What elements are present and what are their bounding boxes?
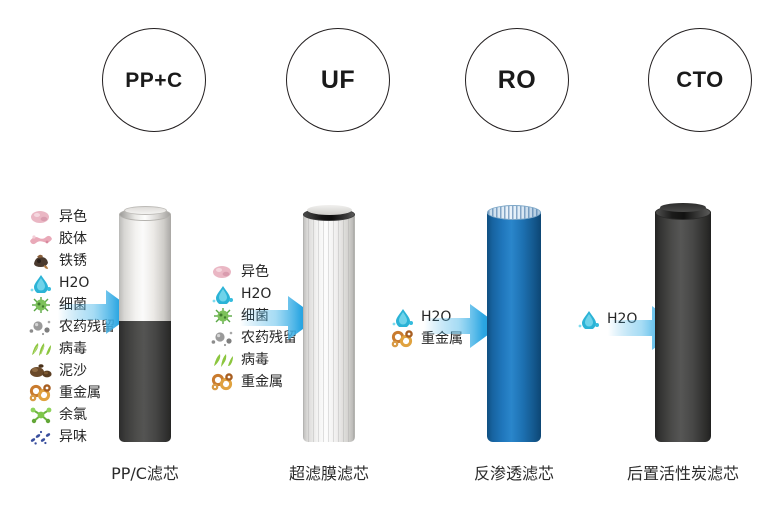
stage-badge-label: CTO xyxy=(676,69,724,91)
water-drop-icon xyxy=(210,284,236,304)
list-item-label: 泥沙 xyxy=(59,361,87,381)
cartridge-caption-ppc: PP/C滤芯 xyxy=(85,460,205,484)
stage-badge-label: UF xyxy=(321,68,355,93)
sediment-icon xyxy=(28,361,54,381)
pesticide-residue-icon xyxy=(28,317,54,337)
cartridge-top-rim xyxy=(303,208,355,221)
water-drop-icon xyxy=(390,307,416,327)
filter-cartridge-uf[interactable] xyxy=(303,214,355,442)
cartridge-top-rim xyxy=(119,208,171,221)
stage-badge-label: RO xyxy=(498,68,537,93)
cartridge-opening xyxy=(660,203,705,212)
residual-chlorine-icon xyxy=(28,405,54,425)
water-drop-icon xyxy=(28,273,54,293)
discoloration-icon xyxy=(210,262,236,282)
list-item-label: 异色 xyxy=(241,262,269,282)
list-item-label: 重金属 xyxy=(59,383,101,403)
odor-icon xyxy=(28,427,54,447)
stage-badge-cto[interactable]: CTO xyxy=(648,28,752,132)
list-item-label: 重金属 xyxy=(241,372,283,392)
cartridge-lower-section xyxy=(119,321,171,442)
discoloration-icon xyxy=(28,207,54,227)
list-item: 铁锈 xyxy=(28,250,115,272)
filter-cartridge-ro[interactable] xyxy=(487,212,541,442)
cartridge-top-rim xyxy=(487,205,541,220)
stage-badge-ro[interactable]: RO xyxy=(465,28,569,132)
list-item: 重金属 xyxy=(28,382,115,404)
cartridge-body xyxy=(655,212,711,442)
bacteria-icon xyxy=(210,306,236,326)
list-item: 异色 xyxy=(210,261,297,283)
cartridge-top-rim xyxy=(655,205,711,220)
cartridge-opening xyxy=(124,206,167,215)
stage-badge-uf[interactable]: UF xyxy=(286,28,390,132)
cartridge-opening xyxy=(307,205,352,215)
water-drop-icon xyxy=(576,309,602,329)
colloid-icon xyxy=(28,229,54,249)
list-item: 异色 xyxy=(28,206,115,228)
list-item-label: 病毒 xyxy=(241,350,269,370)
cartridge-caption-cto: 后置活性炭滤芯 xyxy=(613,460,753,484)
cartridge-upper-section xyxy=(119,214,171,321)
virus-icon xyxy=(28,339,54,359)
list-item: 重金属 xyxy=(210,371,297,393)
list-item: 泥沙 xyxy=(28,360,115,382)
heavy-metal-icon xyxy=(210,372,236,392)
list-item: 病毒 xyxy=(210,349,297,371)
list-item-label: 胶体 xyxy=(59,229,87,249)
list-item-label: 余氯 xyxy=(59,405,87,425)
cartridge-body xyxy=(487,212,541,442)
virus-icon xyxy=(210,350,236,370)
list-item-label: 铁锈 xyxy=(59,251,87,271)
list-item-label: 异味 xyxy=(59,427,87,447)
stage-badge-ppc[interactable]: PP+C xyxy=(102,28,206,132)
cartridge-body xyxy=(119,214,171,442)
list-item: 异味 xyxy=(28,426,115,448)
heavy-metal-icon xyxy=(28,383,54,403)
rust-icon xyxy=(28,251,54,271)
list-item: 余氯 xyxy=(28,404,115,426)
bacteria-icon xyxy=(28,295,54,315)
cartridge-caption-uf: 超滤膜滤芯 xyxy=(269,460,389,484)
list-item: 病毒 xyxy=(28,338,115,360)
heavy-metal-icon xyxy=(390,329,416,349)
cartridge-caption-ro: 反渗透滤芯 xyxy=(454,460,574,484)
stage-badge-label: PP+C xyxy=(125,70,182,91)
list-item: 胶体 xyxy=(28,228,115,250)
filtration-diagram: PP+C UF RO CTO 异色 胶体 xyxy=(0,0,771,505)
cartridge-body xyxy=(303,214,355,442)
list-item-label: 病毒 xyxy=(59,339,87,359)
filter-cartridge-cto[interactable] xyxy=(655,212,711,442)
pesticide-residue-icon xyxy=(210,328,236,348)
list-item-label: 异色 xyxy=(59,207,87,227)
filter-cartridge-ppc[interactable] xyxy=(119,214,171,442)
